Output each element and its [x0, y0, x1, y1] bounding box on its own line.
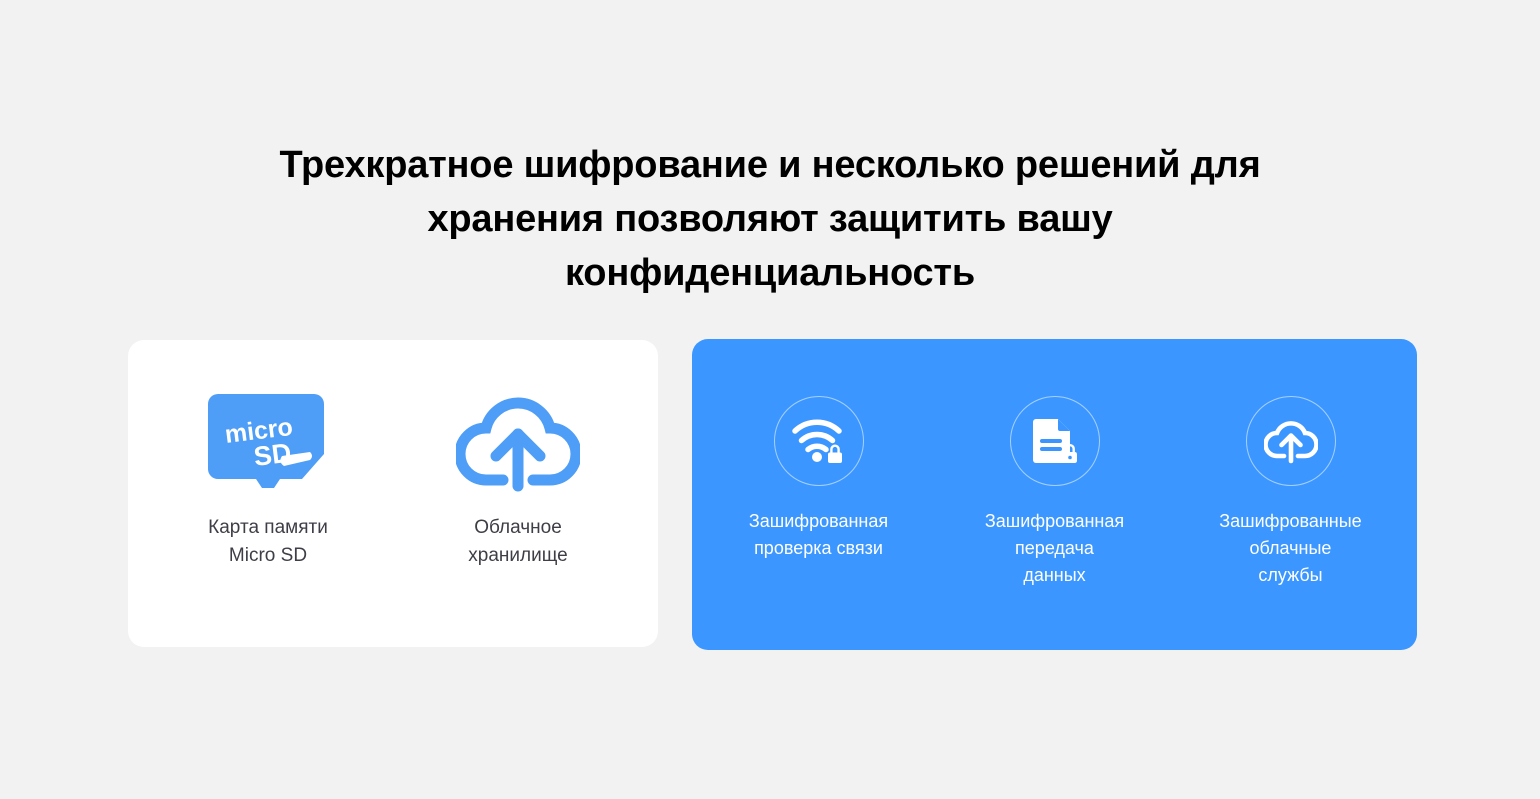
cards-row: micro SD Карта памяти Micro SD [128, 339, 1418, 651]
encryption-feature-data-transfer-label: Зашифрованная передача данных [985, 508, 1124, 589]
encryption-features-list: Зашифрованная проверка связи [740, 339, 1370, 589]
page-title-line-3: конфиденциальность [250, 246, 1290, 300]
microsd-card-icon: micro SD [202, 390, 334, 492]
document-lock-icon [1030, 416, 1080, 466]
storage-options-list: micro SD Карта памяти Micro SD [193, 340, 593, 570]
storage-option-microsd-label: Карта памяти Micro SD [208, 514, 328, 570]
encryption-feature-data-transfer[interactable]: Зашифрованная передача данных [976, 396, 1134, 589]
encryption-feature-cloud-services[interactable]: Зашифрованные облачные службы [1212, 396, 1370, 589]
wifi-lock-circle [774, 396, 864, 486]
encryption-feature-cloud-services-label: Зашифрованные облачные службы [1219, 508, 1361, 589]
cloud-upload-outline-icon [1264, 418, 1318, 464]
wifi-lock-icon [792, 418, 846, 464]
encryption-feature-link-check-label: Зашифрованная проверка связи [749, 508, 888, 562]
storage-option-microsd[interactable]: micro SD Карта памяти Micro SD [193, 387, 343, 570]
encryption-features-panel: Зашифрованная проверка связи [692, 339, 1417, 650]
storage-option-cloud[interactable]: Облачное хранилище [443, 387, 593, 570]
page-title-line-1: Трехкратное шифрование и несколько решен… [250, 138, 1290, 192]
page-title-line-2: хранения позволяют защитить вашу [250, 192, 1290, 246]
cloud-upload-icon [456, 390, 580, 492]
document-lock-circle [1010, 396, 1100, 486]
encryption-feature-link-check[interactable]: Зашифрованная проверка связи [740, 396, 898, 589]
cloud-upload-iconbox [456, 387, 580, 495]
page-root: Трехкратное шифрование и несколько решен… [0, 0, 1540, 799]
microsd-card-iconbox: micro SD [202, 387, 334, 495]
cloud-upload-outline-circle [1246, 396, 1336, 486]
svg-text:SD: SD [252, 438, 293, 472]
storage-option-cloud-label: Облачное хранилище [468, 514, 567, 570]
storage-options-card: micro SD Карта памяти Micro SD [128, 340, 658, 647]
page-title: Трехкратное шифрование и несколько решен… [250, 138, 1290, 300]
